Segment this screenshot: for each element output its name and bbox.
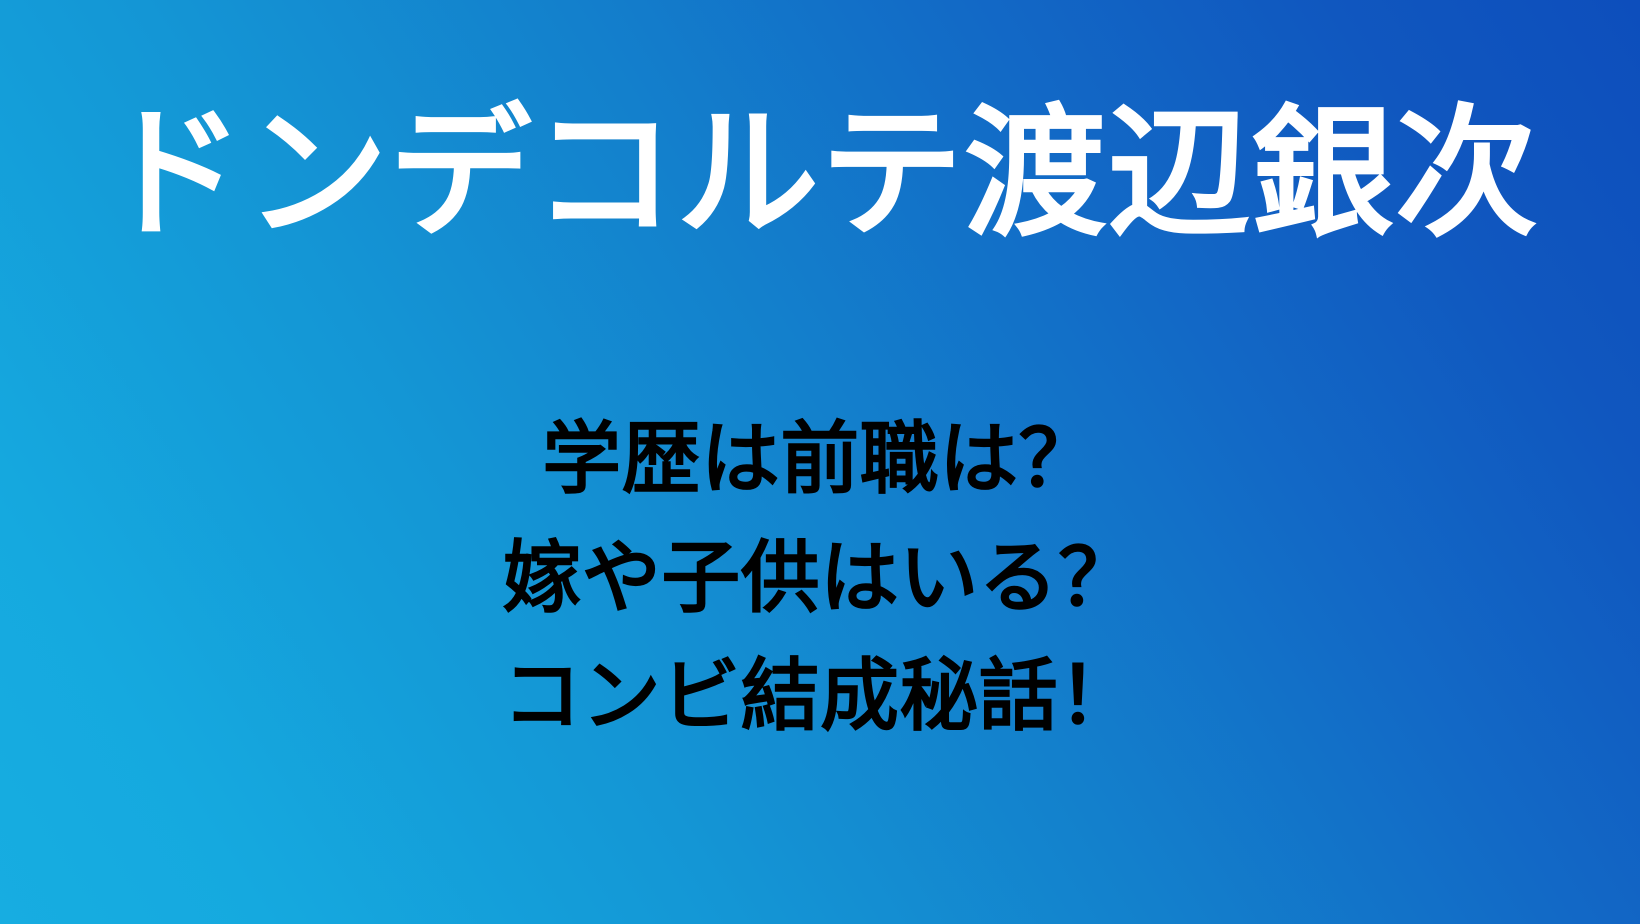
thumbnail-card: ドンデコルテ渡辺銀次 学歴は前職は？ 嫁や子供はいる？ コンビ結成秘話！ bbox=[0, 0, 1640, 924]
title-block: ドンデコルテ渡辺銀次 bbox=[0, 88, 1640, 262]
subtitle-line-2: 嫁や子供はいる？ bbox=[40, 519, 1600, 638]
subtitle-line-1: 学歴は前職は？ bbox=[40, 400, 1600, 519]
subtitle-block: 学歴は前職は？ 嫁や子供はいる？ コンビ結成秘話！ bbox=[0, 400, 1640, 756]
page-title: ドンデコルテ渡辺銀次 bbox=[101, 88, 1538, 262]
subtitle-line-3: コンビ結成秘話！ bbox=[40, 637, 1600, 756]
